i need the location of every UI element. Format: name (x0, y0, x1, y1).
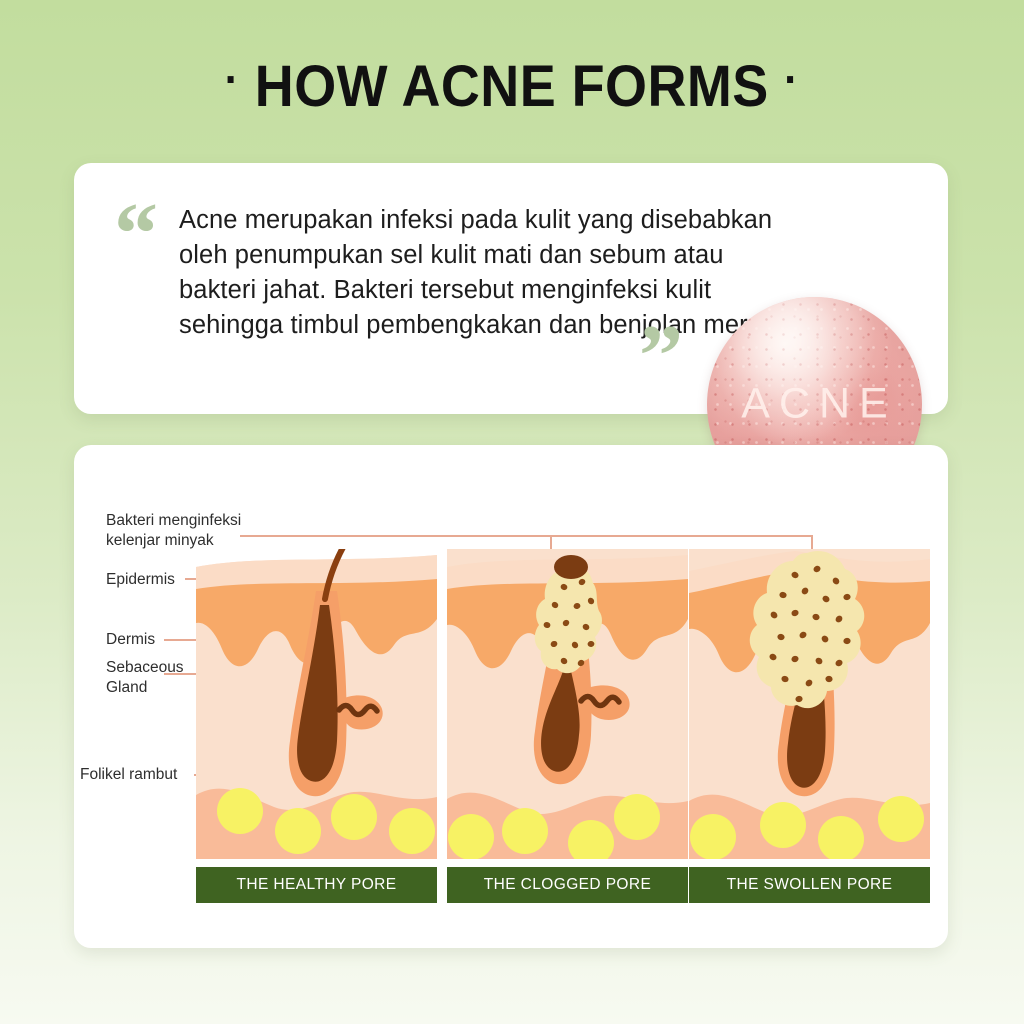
title-dot-left: · (225, 52, 240, 106)
panel-swollen-pore (689, 549, 930, 859)
label-bakteri-menginfeksi: Bakteri menginfeksi kelenjar minyak (106, 511, 241, 551)
diagram-card: Bakteri menginfeksi kelenjar minyak Epid… (74, 445, 948, 948)
caption-healthy-pore: THE HEALTHY PORE (196, 867, 437, 903)
caption-swollen-pore: THE SWOLLEN PORE (689, 867, 930, 903)
leader-bakteri-horizontal (240, 535, 812, 537)
page-title: · HOW ACNE FORMS · (225, 52, 799, 120)
panel-healthy-pore (196, 549, 437, 859)
label-epidermis: Epidermis (106, 570, 175, 590)
healthy-pore-illustration (196, 549, 437, 859)
page-title-text: HOW ACNE FORMS (255, 54, 769, 119)
swollen-pore-illustration (689, 549, 930, 859)
label-sebaceous-gland: Sebaceous Gland (106, 658, 184, 698)
acne-photo-label: ACNE (707, 379, 922, 428)
quote-text: Acne merupakan infeksi pada kulit yang d… (179, 203, 799, 343)
page-title-wrap: · HOW ACNE FORMS · (0, 52, 1024, 120)
caption-clogged-pore: THE CLOGGED PORE (447, 867, 688, 903)
quote-close-icon: ” (639, 313, 683, 401)
label-folikel-rambut: Folikel rambut (80, 765, 177, 785)
title-dot-right: · (784, 52, 799, 106)
clogged-pore-illustration (447, 549, 688, 859)
panel-clogged-pore (447, 549, 688, 859)
label-dermis: Dermis (106, 630, 155, 650)
quote-open-icon: “ (114, 191, 158, 279)
